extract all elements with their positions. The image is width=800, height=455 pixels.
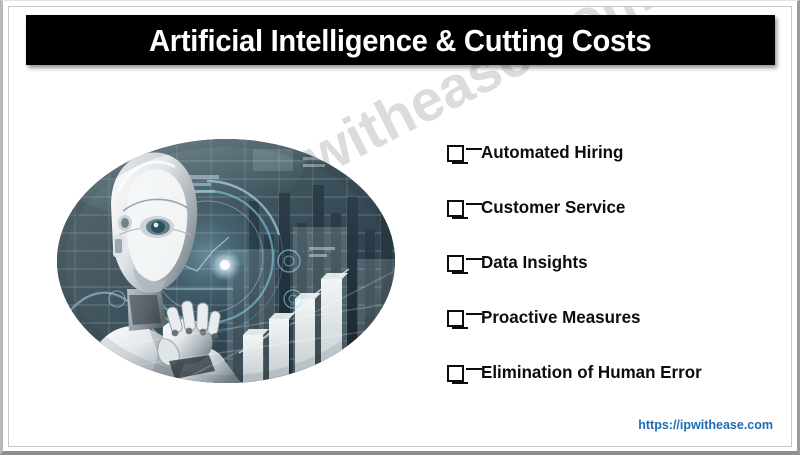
list-item: Elimination of Human Error [447,345,777,400]
list-item: Customer Service [447,180,777,235]
slide-frame: Artificial Intelligence & Cutting Costs … [0,0,800,455]
list-item-label: Customer Service [481,197,625,218]
bullet-list: Automated Hiring Customer Service Data I… [447,125,777,400]
checkbox-square-icon [447,310,464,327]
footer-website-link[interactable]: https://ipwithease.com [638,418,773,432]
list-item-label: Proactive Measures [481,307,640,328]
list-item: Automated Hiring [447,125,777,180]
robot-analytics-illustration [57,139,395,383]
checkbox-square-icon [447,365,464,382]
checkbox-square-icon [447,200,464,217]
list-item: Proactive Measures [447,290,777,345]
checkbox-square-icon [447,145,464,162]
list-item: Data Insights [447,235,777,290]
list-item-label: Data Insights [481,252,588,273]
slide-canvas: Artificial Intelligence & Cutting Costs … [8,6,792,447]
list-item-label: Elimination of Human Error [481,362,702,383]
page-title: Artificial Intelligence & Cutting Costs [149,25,651,56]
list-item-label: Automated Hiring [481,142,623,163]
robot-analytics-image [57,139,395,383]
checkbox-square-icon [447,255,464,272]
title-banner: Artificial Intelligence & Cutting Costs [26,15,775,65]
